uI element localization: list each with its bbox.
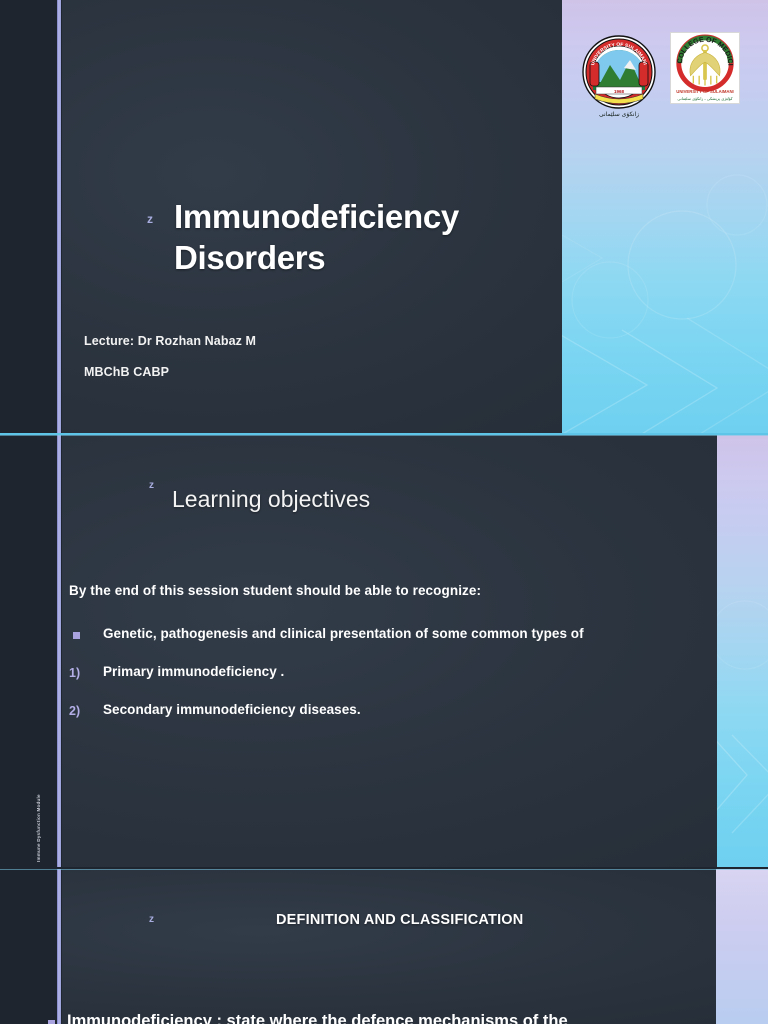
svg-text:زانكۆی سلێمانی: زانكۆی سلێمانی — [599, 111, 639, 118]
list-item-marker: 2) — [69, 702, 103, 718]
slide3-first-bullet: Immunodeficiency : state where the defen… — [48, 1012, 568, 1024]
presentation-page: 1968 UNIVERSITY OF SULAIMANI زانكۆی سلێم… — [0, 0, 768, 1024]
slide1-z-marker: z — [147, 212, 154, 226]
lecturer-degree: MBChB CABP — [84, 365, 169, 379]
slide2-z-marker: z — [149, 480, 154, 491]
lecturer-name: Lecture: Dr Rozhan Nabaz M — [84, 334, 256, 348]
slide2-vertical-note: Immune Dysfunction Module — [36, 770, 41, 862]
slide2-deco-pattern — [717, 435, 768, 867]
page-title: Immunodeficiency Disorders — [174, 197, 544, 279]
slide1-left-band — [0, 0, 62, 435]
list-item: 2) Secondary immunodeficiency diseases. — [69, 702, 717, 719]
slide2-intro-text: By the end of this session student shoul… — [69, 583, 481, 598]
list-item-marker: 1) — [69, 664, 103, 680]
list-item-label: Secondary immunodeficiency diseases. — [103, 702, 361, 719]
list-item: Genetic, pathogenesis and clinical prese… — [69, 626, 717, 643]
university-of-sulaimani-logo: 1968 UNIVERSITY OF SULAIMANI زانكۆی سلێم… — [580, 32, 658, 120]
bullet-square-icon — [69, 626, 103, 642]
slide3-decorative-panel — [716, 869, 768, 1024]
slide2-top-hairline — [0, 435, 768, 436]
list-item-label: Primary immunodeficiency . — [103, 664, 284, 681]
slide3-z-marker: z — [149, 914, 154, 925]
slide1-accent-bar — [57, 0, 61, 435]
list-item-label: Genetic, pathogenesis and clinical prese… — [103, 626, 584, 643]
slide-title: 1968 UNIVERSITY OF SULAIMANI زانكۆی سلێم… — [0, 0, 768, 435]
slide2-heading: Learning objectives — [172, 486, 370, 513]
learning-objectives-list: Genetic, pathogenesis and clinical prese… — [69, 626, 717, 740]
slide3-accent-bar — [57, 869, 61, 1024]
slide-definition-and-classification — [0, 869, 768, 1024]
slide3-left-band — [0, 869, 62, 1024]
college-of-medicine-logo: COLLEGE OF MEDICINE UNIVERSITY OF SULAIM… — [670, 32, 740, 104]
svg-text:1968: 1968 — [614, 89, 625, 94]
svg-text:کۆلێژی پزیشکی ـ زانکۆی سلێمانی: کۆلێژی پزیشکی ـ زانکۆی سلێمانی — [677, 96, 732, 101]
slide3-top-hairline — [0, 869, 768, 870]
logo-row: 1968 UNIVERSITY OF SULAIMANI زانكۆی سلێم… — [580, 32, 740, 120]
slide3-bullet-label: Immunodeficiency : state where the defen… — [67, 1012, 568, 1024]
slide2-decorative-panel — [717, 435, 768, 867]
slide1-decorative-panel: 1968 UNIVERSITY OF SULAIMANI زانكۆی سلێم… — [562, 0, 768, 435]
slide3-body — [62, 869, 716, 1024]
slide2-left-band — [0, 435, 62, 867]
bullet-square-icon — [48, 1020, 55, 1024]
list-item: 1) Primary immunodeficiency . — [69, 664, 717, 681]
slide2-accent-bar — [57, 435, 61, 867]
svg-text:UNIVERSITY OF SULAIMANI: UNIVERSITY OF SULAIMANI — [676, 89, 734, 94]
slide3-heading: DEFINITION AND CLASSIFICATION — [276, 912, 523, 928]
